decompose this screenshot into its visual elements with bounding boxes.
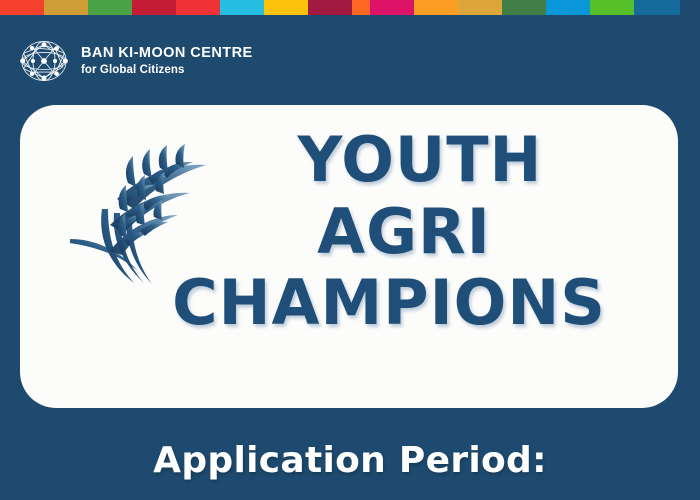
organization-logo[interactable]: BAN KI-MOON CENTRE for Global Citizens [18, 38, 253, 84]
hero-card: YOUTH AGRI CHAMPIONS [20, 105, 678, 408]
globe-network-icon [18, 38, 70, 84]
sdg-10-reduced-inequalities [370, 0, 414, 15]
logo-name-secondary: for Global Citizens [81, 64, 253, 76]
logo-name-primary: BAN KI-MOON CENTRE [81, 46, 253, 61]
page-title-line-3: CHAMPIONS [115, 267, 663, 339]
sdg-5-gender-equality [176, 0, 220, 15]
application-period-label: Application Period: [0, 440, 700, 481]
sdg-11-sustainable-cities [414, 0, 458, 15]
sdg-6-clean-water [220, 0, 264, 15]
sdg-7-affordable-energy [264, 0, 308, 15]
page-title-line-1: YOUTH [115, 123, 663, 197]
page-title-line-2: AGRI [115, 197, 663, 267]
sdg-15-life-on-land [590, 0, 634, 15]
sdg-3-good-health [88, 0, 132, 15]
page-title: YOUTH AGRI CHAMPIONS [115, 123, 663, 339]
logo-wordmark: BAN KI-MOON CENTRE for Global Citizens [81, 46, 253, 76]
sdg-color-bar [0, 0, 700, 15]
sdg-12-responsible-consumption [458, 0, 502, 15]
sdg-9-industry-innovation [352, 0, 370, 15]
poster-root: { "background_color": "#1d4a6e", "sdg_st… [0, 0, 700, 500]
sdg-1-no-poverty [0, 0, 44, 15]
sdg-2-zero-hunger [44, 0, 88, 15]
sdg-16-peace-justice [634, 0, 680, 15]
sdg-8-decent-work [308, 0, 352, 15]
sdg-4-quality-education [132, 0, 176, 15]
sdg-13-climate-action [502, 0, 546, 15]
sdg-14-life-below-water [546, 0, 590, 15]
